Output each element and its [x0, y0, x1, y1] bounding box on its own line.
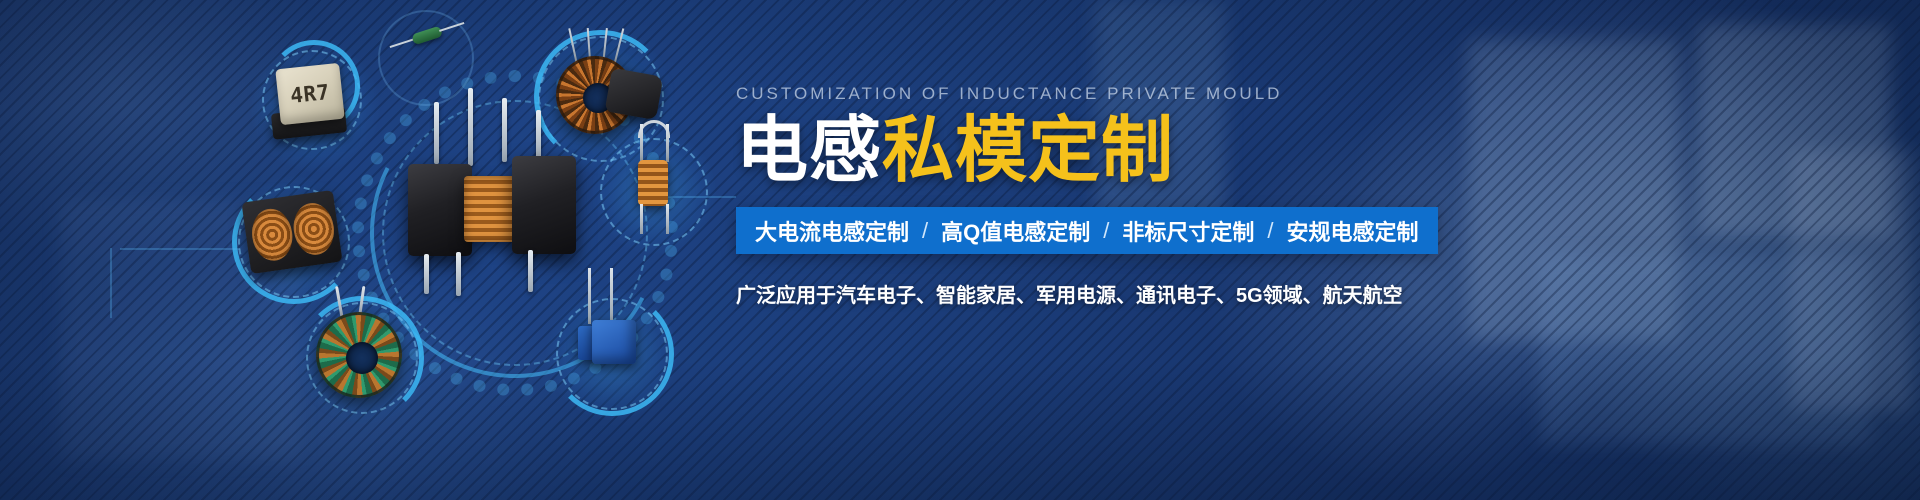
- feature-separator: /: [1090, 218, 1122, 244]
- feature-item-1[interactable]: 高Q值电感定制: [941, 215, 1090, 247]
- dual-copper-coil-inductor: [241, 190, 342, 274]
- smd-inductor-4r7: 4R7: [275, 63, 345, 125]
- smd-inductor-code-label: 4R7: [289, 80, 331, 108]
- pin: [434, 102, 439, 164]
- common-mode-choke-main: [408, 150, 576, 262]
- applications-text: 广泛应用于汽车电子、智能家居、军用电源、通讯电子、5G领域、航天航空: [736, 279, 1716, 308]
- lead-wire: [614, 28, 625, 63]
- copper-winding: [249, 206, 296, 263]
- headline-part-gold: 私模定制: [882, 111, 1174, 191]
- lead-wire: [666, 204, 669, 234]
- lead-wire: [439, 22, 464, 32]
- lead-wire: [390, 38, 415, 48]
- feature-item-3[interactable]: 安规电感定制: [1287, 215, 1419, 247]
- pin: [424, 254, 429, 294]
- headline-part-white: 电感: [736, 111, 882, 191]
- copper-winding: [638, 160, 668, 206]
- lead-wire: [610, 268, 613, 324]
- pin: [468, 88, 473, 166]
- rod-core-inductor: [626, 150, 682, 220]
- feature-item-0[interactable]: 大电流电感定制: [755, 215, 909, 247]
- lead-wire: [588, 268, 591, 324]
- pin: [502, 98, 507, 162]
- feature-bar[interactable]: 大电流电感定制 / 高Q值电感定制 / 非标尺寸定制 / 安规电感定制: [736, 207, 1438, 254]
- feature-separator: /: [1254, 218, 1286, 244]
- promo-banner: 4R7: [0, 0, 1920, 500]
- lead-wire: [640, 124, 643, 162]
- inductor-body: [592, 320, 636, 364]
- feature-item-2[interactable]: 非标尺寸定制: [1122, 215, 1254, 247]
- circuit-trace: [110, 248, 112, 318]
- english-subtitle: CUSTOMIZATION OF INDUCTANCE PRIVATE MOUL…: [736, 84, 1716, 104]
- lead-wire: [568, 28, 577, 64]
- product-collage: 4R7: [0, 0, 740, 500]
- banner-text-block: CUSTOMIZATION OF INDUCTANCE PRIVATE MOUL…: [736, 84, 1716, 308]
- circuit-trace: [120, 248, 240, 250]
- lead-wire: [640, 204, 643, 234]
- page-title: 电感私模定制: [736, 113, 1716, 189]
- ferrite-core-half: [512, 156, 576, 254]
- lead-wire: [666, 124, 669, 162]
- feature-separator: /: [909, 218, 941, 244]
- ferrite-core-half: [408, 164, 472, 256]
- ferrite-core-block: [605, 68, 664, 120]
- blue-radial-inductor: [576, 312, 638, 370]
- pin: [528, 250, 533, 292]
- toroidal-inductor-bottom: [316, 312, 402, 398]
- pin: [456, 252, 461, 296]
- copper-winding: [290, 200, 337, 257]
